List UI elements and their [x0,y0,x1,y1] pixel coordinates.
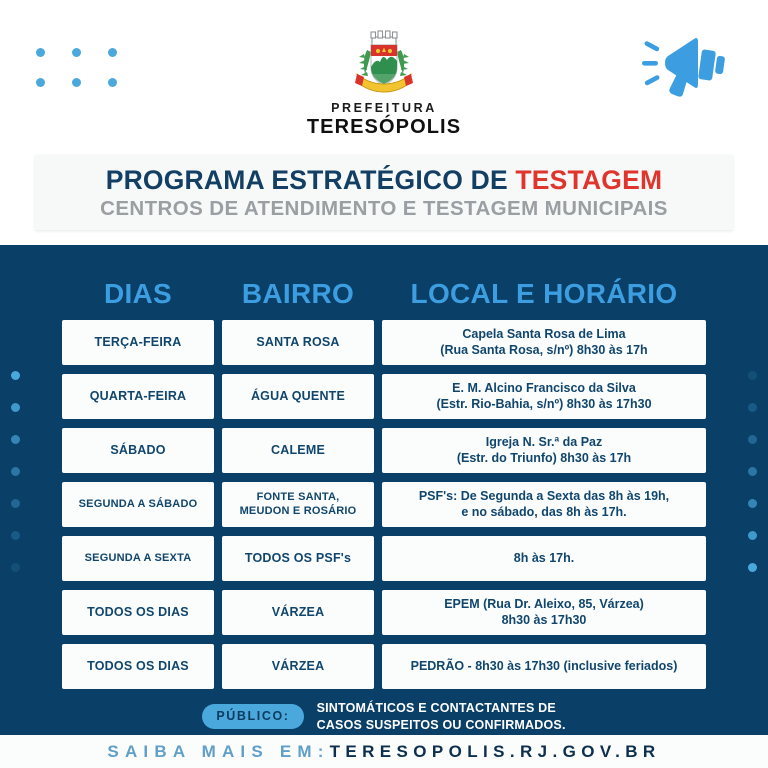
cell-bairro: ÁGUA QUENTE [222,374,374,419]
local-line2: 8h30 às 17h30 [502,613,587,627]
table-row: TERÇA-FEIRA SANTA ROSA Capela Santa Rosa… [62,320,706,365]
footer-url[interactable]: TERESOPOLIS.RJ.GOV.BR [330,742,661,762]
schedule-table: TERÇA-FEIRA SANTA ROSA Capela Santa Rosa… [0,320,768,689]
local-line1: EPEM (Rua Dr. Aleixo, 85, Várzea) [444,597,644,611]
schedule-panel: DIAS BAIRRO LOCAL E HORÁRIO TERÇA-FEIRA … [0,245,768,735]
cell-dias: TERÇA-FEIRA [62,320,214,365]
logo-city-label: TERESÓPOLIS [0,116,768,139]
local-line1: Capela Santa Rosa de Lima [462,327,625,341]
footer-prefix: SAIBA MAIS EM: [107,742,329,762]
cell-dias: TODOS OS DIAS [62,644,214,689]
local-line1: PSF's: De Segunda a Sexta das 8h às 19h, [419,489,669,503]
cell-local-horario: E. M. Alcino Francisco da Silva(Estr. Ri… [382,374,706,419]
page-subtitle: CENTROS DE ATENDIMENTO E TESTAGEM MUNICI… [35,197,733,221]
local-line2: e no sábado, das 8h às 17h. [461,505,626,519]
publico-section: PÚBLICO: SINTOMÁTICOS E CONTACTANTES DE … [0,700,768,734]
publico-line2: CASOS SUSPEITOS OU CONFIRMADOS. [317,718,566,732]
local-line2: (Estr. Rio-Bahia, s/nº) 8h30 às 17h30 [436,397,651,411]
cell-dias: TODOS OS DIAS [62,590,214,635]
cell-bairro: VÁRZEA [222,644,374,689]
cell-local-horario: 8h às 17h. [382,536,706,581]
cell-dias: SEGUNDA A SÁBADO [62,482,214,527]
cell-bairro: CALEME [222,428,374,473]
cell-local-horario: PEDRÃO - 8h30 às 17h30 (inclusive feriad… [382,644,706,689]
teresopolis-coat-of-arms-icon [347,28,421,100]
column-header-dias: DIAS [62,278,214,310]
page-title: PROGRAMA ESTRATÉGICO DE TESTAGEM [35,165,733,196]
table-row: SEGUNDA A SÁBADO FONTE SANTA,MEUDON E RO… [62,482,706,527]
column-header-bairro: BAIRRO [222,278,374,310]
table-row: SÁBADO CALEME Igreja N. Sr.ª da Paz(Estr… [62,428,706,473]
local-line1: Igreja N. Sr.ª da Paz [486,435,602,449]
title-prefix: PROGRAMA ESTRATÉGICO DE [106,165,516,195]
bairro-line2: MEUDON E ROSÁRIO [240,505,357,517]
cell-local-horario: Capela Santa Rosa de Lima(Rua Santa Rosa… [382,320,706,365]
table-row: QUARTA-FEIRA ÁGUA QUENTE E. M. Alcino Fr… [62,374,706,419]
megaphone-icon [642,30,730,104]
publico-description: SINTOMÁTICOS E CONTACTANTES DE CASOS SUS… [317,700,566,734]
cell-local-horario: EPEM (Rua Dr. Aleixo, 85, Várzea)8h30 às… [382,590,706,635]
title-highlight: TESTAGEM [515,165,662,195]
table-row: TODOS OS DIAS VÁRZEA PEDRÃO - 8h30 às 17… [62,644,706,689]
publico-badge: PÚBLICO: [202,704,303,729]
cell-dias: SÁBADO [62,428,214,473]
column-header-local-horario: LOCAL E HORÁRIO [382,278,706,310]
cell-local-horario: PSF's: De Segunda a Sexta das 8h às 19h,… [382,482,706,527]
local-line2: (Estr. do Triunfo) 8h30 às 17h [457,451,631,465]
cell-local-horario: Igreja N. Sr.ª da Paz(Estr. do Triunfo) … [382,428,706,473]
footer-bar: SAIBA MAIS EM: TERESOPOLIS.RJ.GOV.BR [0,735,768,768]
cell-bairro: TODOS OS PSF's [222,536,374,581]
table-row: SEGUNDA A SEXTA TODOS OS PSF's 8h às 17h… [62,536,706,581]
bairro-line1: FONTE SANTA, [257,491,340,503]
cell-dias: QUARTA-FEIRA [62,374,214,419]
page-header: PREFEITURA TERESÓPOLIS PROGRAMA ESTRATÉG… [0,0,768,245]
local-line1: E. M. Alcino Francisco da Silva [452,381,636,395]
local-line2: (Rua Santa Rosa, s/nº) 8h30 às 17h [440,343,647,357]
publico-line1: SINTOMÁTICOS E CONTACTANTES DE [317,701,556,715]
table-row: TODOS OS DIAS VÁRZEA EPEM (Rua Dr. Aleix… [62,590,706,635]
cell-bairro: FONTE SANTA,MEUDON E ROSÁRIO [222,482,374,527]
cell-bairro: VÁRZEA [222,590,374,635]
table-header-row: DIAS BAIRRO LOCAL E HORÁRIO [0,245,768,310]
cell-dias: SEGUNDA A SEXTA [62,536,214,581]
cell-bairro: SANTA ROSA [222,320,374,365]
title-banner: PROGRAMA ESTRATÉGICO DE TESTAGEM CENTROS… [35,155,733,230]
